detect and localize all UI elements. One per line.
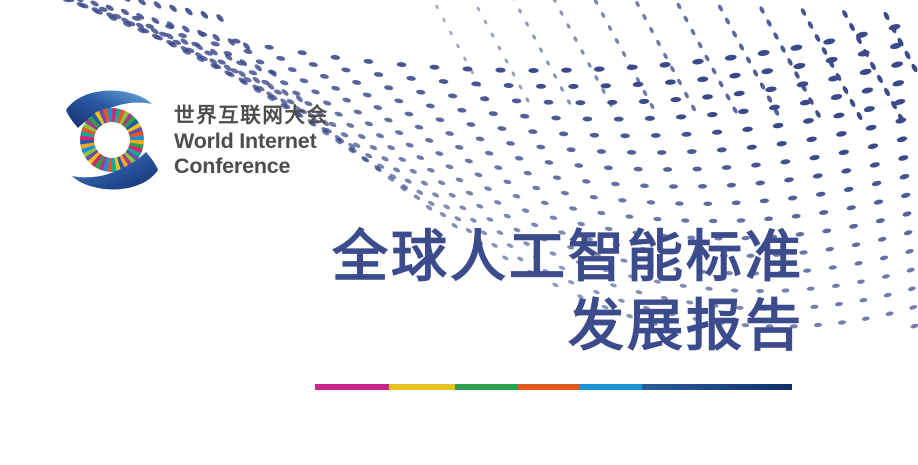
halftone-dot [145,23,155,30]
halftone-dot [352,142,361,149]
halftone-dot [381,155,390,162]
halftone-dot [426,167,435,174]
halftone-dot [620,133,630,138]
halftone-dot [490,32,495,38]
halftone-dot [906,267,915,273]
halftone-dot [561,190,570,196]
halftone-dot [94,8,104,15]
halftone-dot [903,50,911,60]
halftone-dot [154,34,164,42]
halftone-dot [883,292,892,298]
halftone-dot [559,10,565,17]
accent-rule-segment-light-blue [580,384,642,390]
halftone-dot [226,37,236,47]
halftone-dot [520,113,530,118]
halftone-dot [659,62,671,68]
halftone-dot [152,0,162,10]
halftone-dot [731,30,738,39]
halftone-dot [662,52,669,60]
halftone-dot [890,100,898,110]
halftone-dot [74,0,84,3]
halftone-dot [898,154,909,162]
halftone-dot [445,164,454,170]
halftone-dot [712,129,723,135]
halftone-dot [669,184,678,189]
halftone-dot [503,213,511,219]
halftone-dot [803,268,811,273]
halftone-dot [676,78,683,86]
halftone-dot [896,37,904,47]
halftone-dot [593,0,599,6]
halftone-dot [463,56,468,62]
accent-rule [315,384,792,390]
halftone-dot [122,20,132,28]
halftone-dot [528,68,538,73]
halftone-dot [352,79,362,85]
halftone-dot [455,177,464,183]
halftone-dot [566,99,572,106]
halftone-dot [61,0,71,3]
halftone-dot [471,81,481,86]
halftone-dot [409,168,418,175]
halftone-dot [464,158,473,164]
halftone-dot [405,142,414,149]
halftone-dot [349,146,358,154]
halftone-dot [806,136,817,143]
halftone-dot [681,132,691,137]
halftone-dot [633,81,644,87]
halftone-dot [336,137,345,145]
halftone-dot [607,100,617,105]
halftone-dot [204,50,214,57]
halftone-dot [628,63,634,70]
halftone-dot [517,8,522,14]
halftone-dot [799,99,811,106]
halftone-dot [675,201,684,206]
halftone-dot [466,122,476,128]
accent-rule-segment-yellow [389,384,455,390]
halftone-dot [692,58,704,65]
halftone-dot [786,57,794,66]
halftone-dot [465,190,474,196]
halftone-dot [857,49,870,57]
halftone-dot [215,13,225,23]
halftone-dot [120,8,130,17]
halftone-dot [910,63,918,73]
halftone-dot [553,175,562,181]
halftone-dot [442,17,447,23]
halftone-dot [697,76,709,83]
halftone-dot [515,155,524,161]
halftone-dot [360,155,369,163]
halftone-dot [819,209,829,215]
halftone-dot [889,24,897,34]
halftone-dot [722,165,732,170]
halftone-dot [476,6,481,12]
halftone-dot [561,67,572,72]
halftone-dot [396,62,406,68]
halftone-dot [825,56,838,64]
halftone-dot [137,27,147,35]
halftone-dot [476,203,484,209]
halftone-dot [404,178,413,185]
halftone-dot [416,89,426,95]
halftone-dot [848,98,856,108]
halftone-dot [435,4,440,9]
halftone-dot [865,124,877,132]
halftone-dot [649,102,655,110]
halftone-dot [425,137,434,143]
accent-rule-segment-green [455,384,518,390]
halftone-dot [545,60,551,67]
halftone-dot [91,6,101,14]
halftone-dot [861,86,874,94]
halftone-dot [158,31,168,38]
halftone-dot [493,199,502,205]
halftone-dot [905,248,914,255]
halftone-dot [503,179,512,185]
halftone-dot [184,6,194,16]
halftone-dot [765,86,777,93]
halftone-dot [855,35,863,45]
halftone-dot [670,97,681,103]
halftone-dot [810,304,818,309]
halftone-dot [842,85,850,95]
halftone-dot [814,109,822,118]
accent-rule-segment-blue-navy-gradient [642,384,792,390]
logo-wordmark-en-line2: Conference [174,154,329,179]
halftone-dot [765,19,772,28]
halftone-dot [848,22,856,32]
halftone-dot [373,164,382,172]
halftone-dot [435,117,445,123]
halftone-dot [634,0,640,8]
halftone-dot [893,98,905,106]
halftone-dot [814,33,822,42]
halftone-dot [727,183,737,188]
halftone-dot [902,211,912,218]
halftone-dot [226,70,236,78]
halftone-dot [448,93,458,99]
halftone-dot [690,104,697,112]
halftone-dot [889,42,902,50]
halftone-dot [448,192,457,199]
halftone-dot [457,107,467,113]
halftone-dot [825,246,834,252]
halftone-dot [254,63,264,72]
halftone-dot [166,20,176,29]
halftone-dot [168,41,178,49]
halftone-dot [569,206,578,212]
halftone-dot [607,24,613,31]
halftone-dot [276,55,286,61]
halftone-dot [252,76,262,85]
halftone-dot [414,124,423,130]
halftone-dot [843,186,853,193]
halftone-dot [361,156,370,164]
halftone-dot [582,179,591,184]
halftone-dot [521,208,530,214]
halftone-dot [717,4,724,12]
halftone-dot [267,69,277,76]
accent-rule-segment-magenta [315,384,389,390]
halftone-dot [648,26,654,34]
halftone-dot [297,50,307,56]
halftone-dot [126,20,136,27]
halftone-dot [859,297,868,303]
halftone-dot [135,12,145,21]
halftone-dot [876,74,884,84]
halftone-dot [653,217,662,222]
halftone-dot [431,192,440,199]
halftone-dot [182,48,192,56]
halftone-dot [341,67,351,73]
halftone-dot [758,6,765,15]
halftone-dot [690,28,697,36]
halftone-dot [264,44,274,50]
halftone-dot [711,67,718,75]
halftone-dot [882,11,890,21]
halftone-dot [364,152,373,159]
halftone-dot [587,61,593,68]
halftone-dot [518,84,523,90]
halftone-dot [194,51,204,59]
halftone-dot [738,43,745,52]
halftone-dot [185,47,195,54]
halftone-dot [807,286,815,291]
halftone-dot [614,117,624,122]
halftone-dot [121,0,131,3]
halftone-dot [627,64,638,70]
halftone-dot [334,134,343,142]
halftone-dot [512,193,521,199]
halftone-dot [764,216,773,221]
logo-wordmark-cn: 世界互联网大会 [174,103,329,130]
halftone-dot [812,173,823,179]
halftone-dot [600,11,606,18]
halftone-dot [855,111,863,121]
halftone-dot [191,41,201,48]
halftone-dot [854,260,863,266]
halftone-dot [65,0,75,3]
halftone-dot [512,98,522,103]
halftone-dot [885,311,894,317]
halftone-dot [398,156,407,163]
halftone-dot [703,201,712,206]
halftone-dot [151,33,161,41]
halftone-dot [828,265,837,270]
halftone-dot [330,54,340,60]
halftone-dot [210,62,220,70]
halftone-dot [375,132,384,139]
halftone-dot [657,150,667,155]
halftone-dot [704,54,711,62]
halftone-dot [793,70,801,79]
halftone-dot [634,167,643,172]
halftone-dot [580,49,586,56]
halftone-dot [861,316,870,322]
halftone-dot [181,24,191,33]
halftone-dot [549,215,557,221]
halftone-dot [425,204,433,211]
halftone-dot [846,205,856,211]
halftone-dot [800,83,808,92]
halftone-dot [76,1,86,9]
halftone-dot [814,323,822,328]
halftone-dot [198,31,208,38]
halftone-dot [828,59,836,69]
halftone-dot [751,162,761,168]
halftone-dot [340,131,349,138]
halftone-dot [392,166,401,173]
halftone-dot [394,129,403,135]
halftone-dot [849,223,859,229]
halftone-dot [90,0,100,8]
halftone-dot [896,135,908,143]
halftone-dot [800,7,808,16]
halftone-dot [150,27,160,36]
halftone-dot [524,21,529,27]
halftone-dot [223,63,233,72]
halftone-dot [773,108,780,117]
halftone-dot [199,10,209,20]
halftone-dot [404,111,414,117]
halftone-dot [353,109,362,116]
halftone-dot [841,167,852,174]
halftone-dot [822,228,831,234]
halftone-dot [625,214,634,219]
halftone-dot [439,79,449,85]
halftone-dot [776,140,787,146]
halftone-dot [406,76,416,82]
halftone-dot [531,34,536,40]
halftone-dot [639,99,650,105]
halftone-dot [287,66,297,72]
halftone-dot [165,32,175,41]
halftone-dot [399,185,407,193]
halftone-dot [210,41,220,48]
halftone-dot [745,56,752,65]
halftone-dot [394,98,404,104]
halftone-dot [873,199,883,206]
halftone-dot [780,159,791,165]
halftone-dot [268,68,277,77]
halftone-dot [439,211,447,218]
halftone-dot [476,82,481,88]
halftone-dot [604,165,613,170]
halftone-dot [733,90,745,97]
halftone-dot [645,116,655,121]
halftone-dot [869,161,880,168]
halftone-dot [523,170,532,176]
halftone-dot [759,82,766,91]
halftone-dot [665,79,676,85]
halftone-dot [480,96,490,102]
halftone-dot [832,283,840,288]
halftone-dot [821,46,829,55]
halftone-dot [98,6,108,13]
halftone-dot [172,39,182,46]
halftone-dot [456,43,461,49]
halftone-dot [320,73,330,79]
halftone-dot [120,16,130,24]
halftone-dot [683,91,690,99]
halftone-dot [363,58,373,64]
report-title-line-1: 全球人工智能标准 [200,222,804,291]
halftone-dot [237,76,247,84]
halftone-dot [373,104,383,110]
halftone-dot [208,57,218,66]
halftone-dot [871,180,882,187]
halftone-dot [793,62,806,70]
halftone-dot [663,167,672,172]
halftone-dot [791,213,800,219]
halftone-dot [455,144,464,150]
halftone-dot [772,122,783,129]
halftone-dot [807,96,815,105]
halftone-dot [387,144,396,151]
halftone-dot [364,120,373,127]
halftone-dot [809,154,820,161]
halftone-dot [877,236,887,242]
halftone-dot [879,255,888,261]
halftone-dot [347,142,356,150]
halftone-dot [830,93,842,101]
halftone-dot [443,203,451,210]
halftone-dot [384,85,394,91]
halftone-dot [568,84,578,89]
halftone-dot [376,162,385,169]
halftone-dot [429,64,439,70]
halftone-dot [891,60,904,68]
halftone-dot [788,195,798,201]
halftone-dot [760,198,769,203]
halftone-dot [334,111,343,118]
halftone-dot [823,38,836,46]
halftone-dot [641,13,647,21]
halftone-dot [427,200,435,207]
halftone-dot [196,29,206,39]
halftone-dot [135,22,145,30]
halftone-dot [497,45,502,51]
halftone-dot [485,150,494,156]
halftone-dot [717,147,727,153]
halftone-dot [552,73,558,80]
halftone-dot [211,33,221,43]
halftone-dot [647,200,656,205]
halftone-dot [761,68,773,75]
halftone-dot [807,20,815,29]
halftone-dot [575,100,585,105]
halftone-dot [137,0,147,7]
halftone-dot [331,85,341,91]
halftone-dot [528,129,538,134]
halftone-dot [231,38,241,44]
halftone-dot [194,42,204,51]
halftone-dot [729,72,741,79]
halftone-dot [243,48,253,54]
halftone-dot [835,72,843,82]
halftone-dot [497,126,507,132]
halftone-dot [532,185,541,191]
halftone-dot [738,108,749,114]
halftone-dot [416,189,424,196]
halftone-dot [544,100,554,105]
halftone-dot [692,166,702,171]
halftone-dot [841,9,849,19]
halftone-dot [559,131,569,136]
halftone-dot [718,80,725,88]
